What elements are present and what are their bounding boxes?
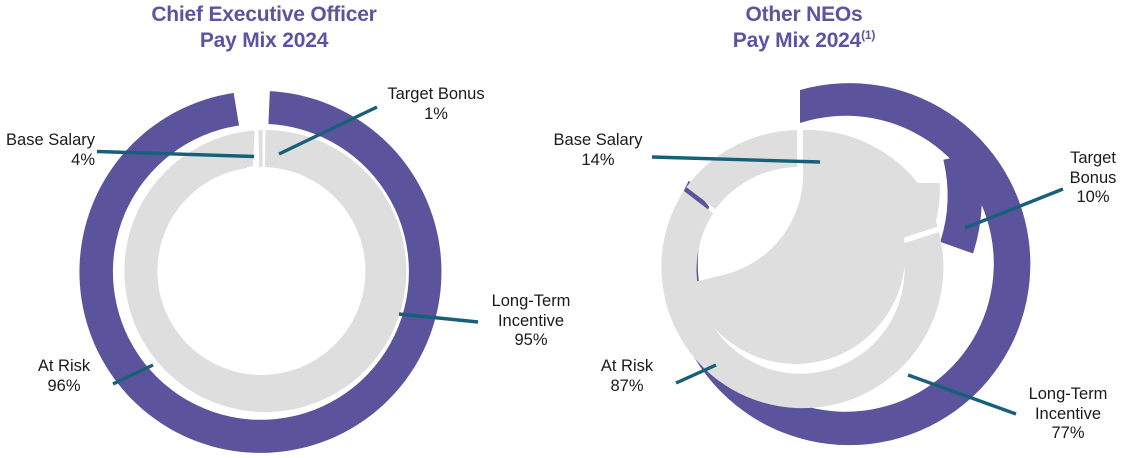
neo-label-at-risk-value: 87% <box>584 377 670 397</box>
ceo-inner-lti-slice <box>124 130 406 412</box>
neo-label-at-risk: At Risk 87% <box>584 357 670 396</box>
ceo-label-lti-name-1: Long-Term <box>483 292 579 312</box>
neo-inner-base-salary-slice <box>686 130 797 209</box>
ceo-label-base-salary: Base Salary 4% <box>0 131 95 170</box>
ceo-label-at-risk-name: At Risk <box>21 357 107 377</box>
ceo-inner-target-bonus-slice <box>258 130 262 167</box>
neo-label-base-salary: Base Salary 14% <box>546 131 650 170</box>
neo-label-lti-name-1: Long-Term <box>1020 385 1116 405</box>
ceo-label-target-bonus: Target Bonus 1% <box>380 85 492 124</box>
ceo-label-at-risk-value: 96% <box>21 377 107 397</box>
neo-label-at-risk-name: At Risk <box>584 357 670 377</box>
ceo-label-lti: Long-Term Incentive 95% <box>483 292 579 351</box>
neo-donut <box>652 83 1063 445</box>
ceo-label-lti-value: 95% <box>483 331 579 351</box>
neo-label-target-bonus-name-1: Target <box>1060 149 1126 169</box>
ceo-label-lti-name-2: Incentive <box>483 312 579 332</box>
neo-label-base-salary-name: Base Salary <box>546 131 650 151</box>
neo-outer-target-bonus-exploded-slice <box>940 153 982 254</box>
donut-charts-svg <box>0 0 1126 458</box>
ceo-donut <box>79 91 478 453</box>
ceo-label-at-risk: At Risk 96% <box>21 357 107 396</box>
pay-mix-figure: Chief Executive Officer Pay Mix 2024 Oth… <box>0 0 1126 458</box>
neo-label-lti-name-2: Incentive <box>1020 405 1116 425</box>
neo-label-base-salary-value: 14% <box>546 151 650 171</box>
ceo-label-base-salary-value: 4% <box>0 151 95 171</box>
neo-label-lti-value: 77% <box>1020 424 1116 444</box>
neo-label-target-bonus-name-2: Bonus <box>1060 169 1126 189</box>
neo-label-lti: Long-Term Incentive 77% <box>1020 385 1116 444</box>
neo-label-target-bonus-value: 10% <box>1060 188 1126 208</box>
ceo-label-target-bonus-name: Target Bonus <box>380 85 492 105</box>
ceo-label-base-salary-name: Base Salary <box>0 131 95 151</box>
neo-label-target-bonus: Target Bonus 10% <box>1060 149 1126 208</box>
ceo-label-target-bonus-value: 1% <box>380 105 492 125</box>
